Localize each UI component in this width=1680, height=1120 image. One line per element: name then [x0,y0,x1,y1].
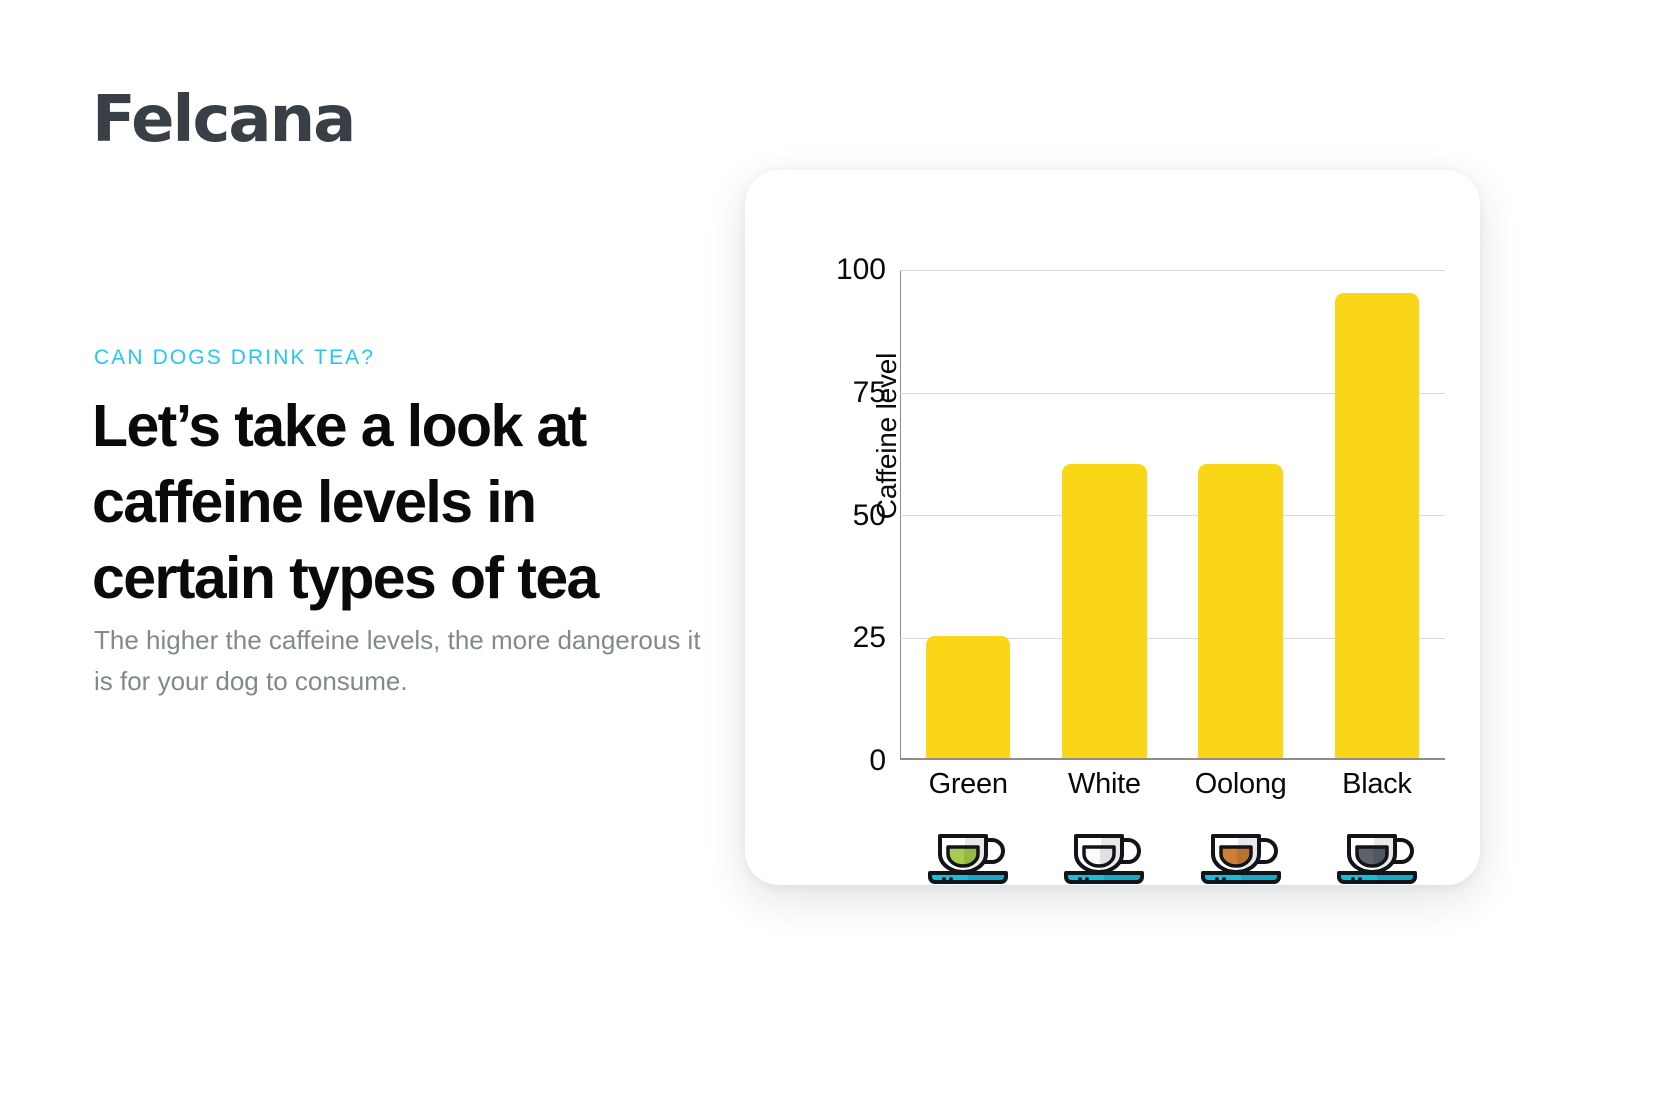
category-green: Green [900,768,1036,887]
x-axis-tick-label: Black [1342,768,1411,801]
bar-slot [900,268,1036,758]
teacup-white-icon [1058,821,1150,887]
bar-oolong[interactable] [1198,464,1282,758]
brand-logo: Felcana [92,88,354,152]
bar-white[interactable] [1062,464,1146,758]
x-axis-tick-label: Oolong [1195,768,1287,801]
subtitle-text: The higher the caffeine levels, the more… [94,620,714,702]
category-axis: Green White [900,768,1445,887]
bar-black[interactable] [1335,293,1419,759]
gridline: 0 [900,760,1445,761]
y-axis-tick-label: 75 [853,376,886,410]
eyebrow-text: Can dogs drink tea? [94,346,375,370]
y-axis-tick-label: 0 [869,744,886,778]
plot-area: 1007550250 [900,270,1445,760]
teacup-green-icon [922,821,1014,887]
teacup-black-icon [1331,821,1423,887]
x-axis-tick-label: Green [929,768,1008,801]
teacup-oolong-icon [1195,821,1287,887]
bar-series [900,268,1445,758]
x-axis-tick-label: White [1068,768,1141,801]
bar-slot [1309,268,1445,758]
poster-canvas: Felcana Can dogs drink tea? Let’s take a… [0,0,1680,1120]
y-axis-tick-label: 50 [853,499,886,533]
category-black: Black [1309,768,1445,887]
page-title: Let’s take a look at caffeine levels in … [92,388,732,616]
bar-green[interactable] [926,636,1010,759]
chart-card: Caffeine level 1007550250 Green [745,170,1480,885]
bar-chart: Caffeine level 1007550250 Green [745,170,1480,885]
y-axis-tick-label: 25 [853,621,886,655]
bar-slot [1036,268,1172,758]
category-white: White [1036,768,1172,887]
bar-slot [1173,268,1309,758]
category-oolong: Oolong [1173,768,1309,887]
y-axis-tick-label: 100 [836,253,886,287]
